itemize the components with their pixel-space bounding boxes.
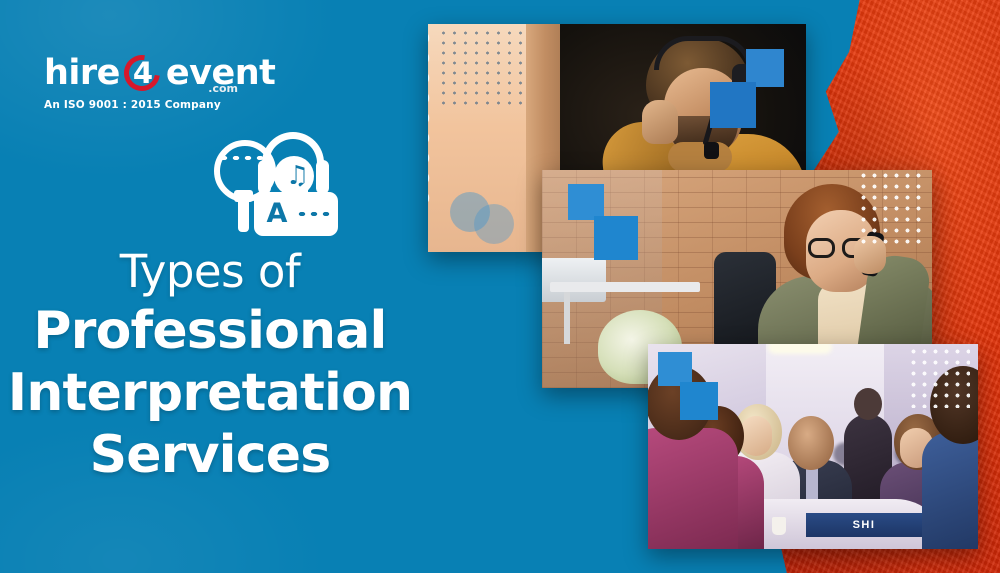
dot-grid-panel (438, 28, 538, 106)
magnifier-handle-icon (238, 198, 249, 232)
letter-a-glyph: A (260, 196, 294, 232)
interpretation-icon: ♫ A (206, 130, 338, 240)
headphone-earcup-left (258, 160, 271, 194)
photo2-desk (550, 282, 700, 292)
microphone-icon (704, 142, 719, 159)
photo1-collar (668, 142, 732, 172)
brand-logo[interactable]: hire4event .com An ISO 9001 : 2015 Compa… (44, 52, 234, 111)
dot-grid-overlay (858, 170, 926, 246)
white-edge-dots (428, 28, 432, 202)
logo-word-hire: hire (44, 52, 120, 94)
photo3-coffee-cup (772, 517, 786, 535)
logo-wordmark: hire4event .com (44, 52, 234, 94)
photo3-table-sign: SHI (806, 513, 922, 537)
blue-square-small (568, 184, 604, 220)
headphone-earcup-right (316, 160, 329, 194)
blue-square-small (658, 352, 692, 386)
headline-line-3: Interpretation (0, 362, 420, 424)
headline-line-1: Types of (0, 244, 420, 300)
photo1-hand (642, 100, 678, 144)
photo3-ceiling-light (768, 344, 832, 354)
ellipsis-dots-icon (218, 154, 264, 162)
blue-square-large (594, 216, 638, 260)
logo-tagline: An ISO 9001 : 2015 Company (44, 99, 234, 111)
photo3-sign-label: SHI (853, 519, 876, 531)
blue-square-large (680, 382, 718, 420)
headline-line-4: Services (0, 424, 420, 486)
headline-block: Types of Professional Interpretation Ser… (0, 244, 420, 486)
dot-grid-overlay (908, 346, 970, 408)
bubble-ellipsis-dots (296, 210, 332, 218)
conference-interpretation-photo: SHI (648, 344, 978, 549)
logo-swoosh-badge: 4 (120, 52, 166, 94)
logo-domain-suffix: .com (208, 82, 238, 95)
photo2-monitor (542, 258, 606, 302)
blue-square-large (710, 82, 756, 128)
photo2-desk-leg (564, 292, 570, 344)
headline-line-2: Professional (0, 300, 420, 362)
overlapping-circles (450, 192, 530, 244)
banner-canvas: SHI hire4event .com An ISO 9001 : 2015 C… (0, 0, 1000, 573)
logo-number-4: 4 (120, 52, 166, 94)
